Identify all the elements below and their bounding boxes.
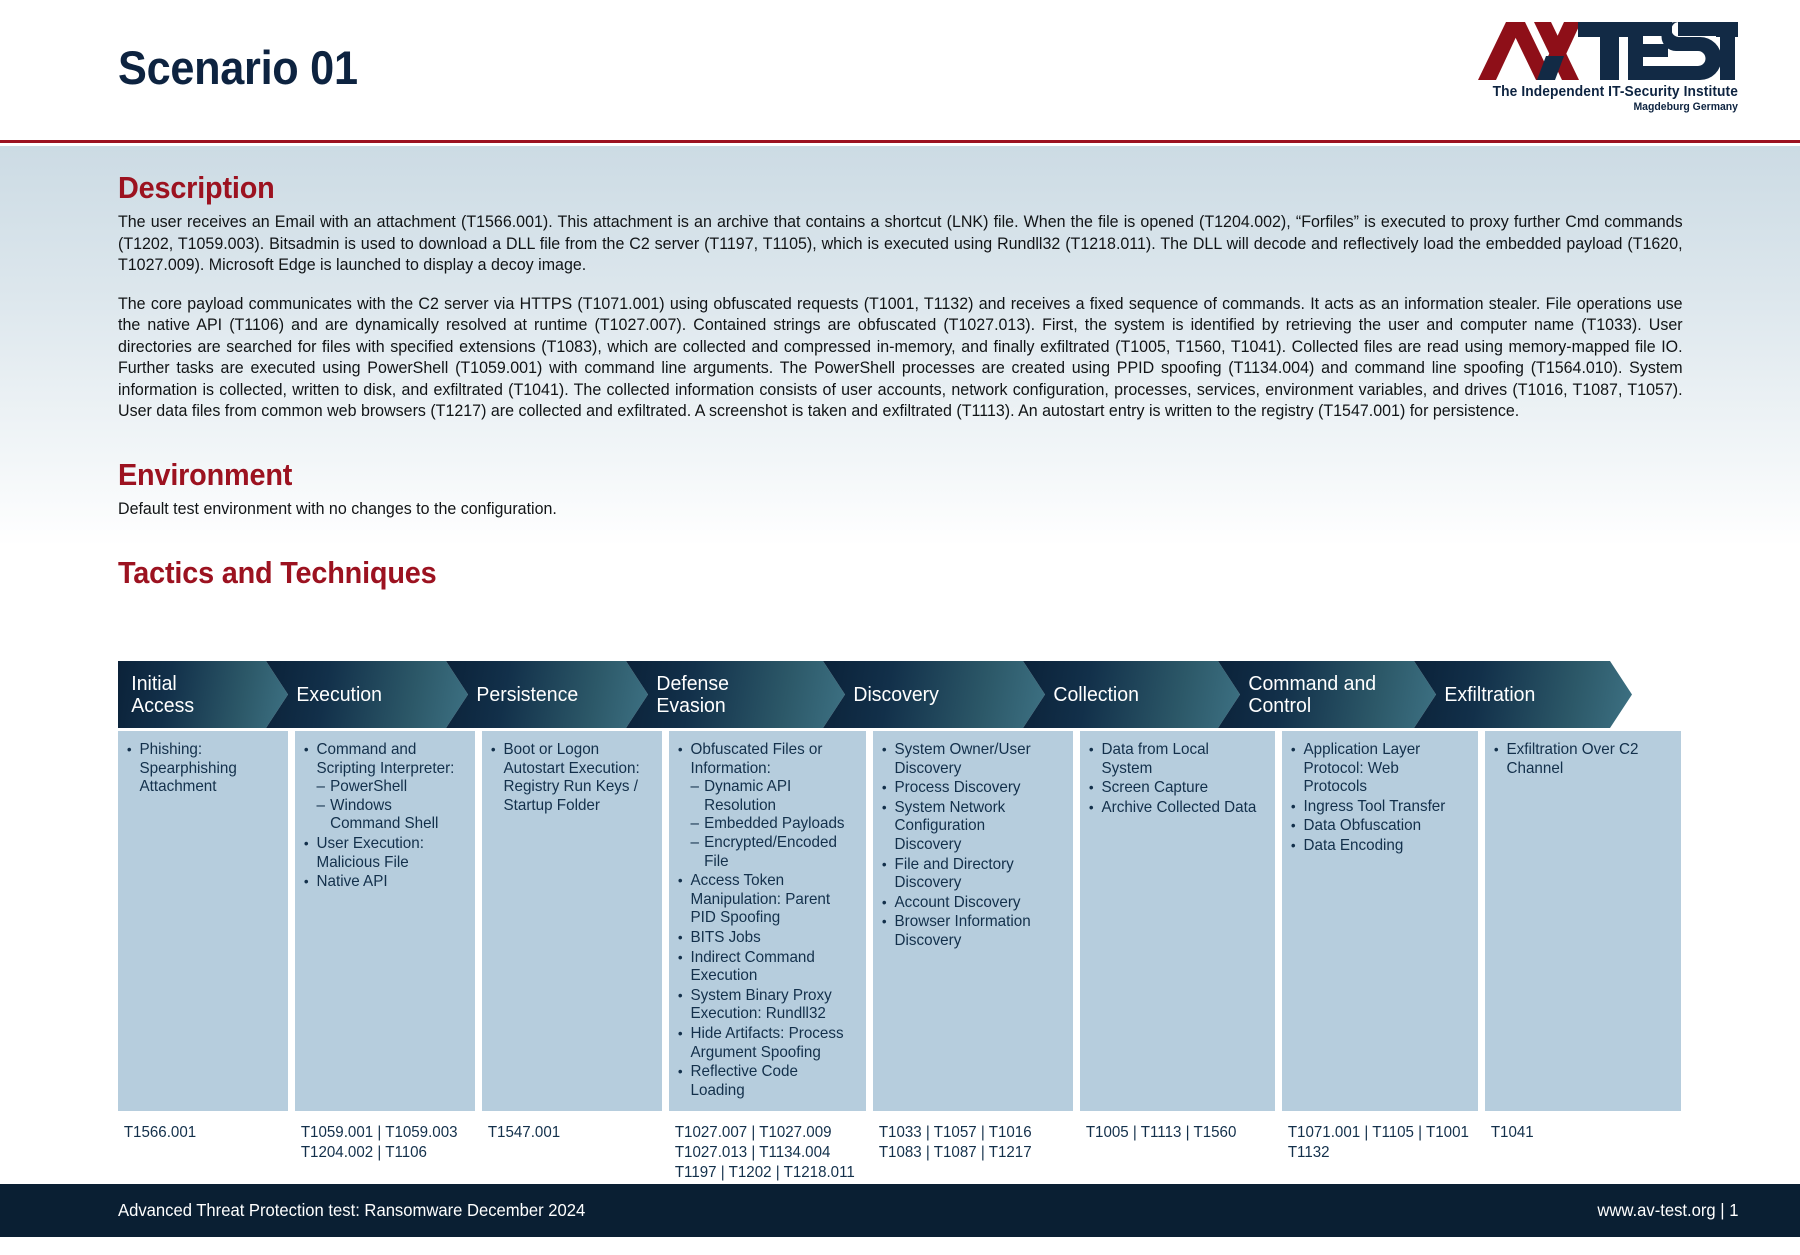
footer-bottom-strip	[0, 1237, 1800, 1255]
page-header: Scenario 01	[0, 0, 1800, 143]
technique-list: Phishing: Spearphishing Attachment	[124, 741, 276, 797]
technique-item: Command and Scripting Interpreter:PowerS…	[301, 741, 458, 834]
tactic-header-discovery: Discovery	[823, 661, 1045, 728]
technique-item: System Binary Proxy Execution: Rundll32	[675, 987, 849, 1024]
tactic-header-exfiltration: Exfiltration	[1414, 661, 1632, 728]
technique-item: Hide Artifacts: Process Argument Spoofin…	[675, 1025, 849, 1062]
tactic-header-label: Command and Control	[1218, 673, 1384, 717]
technique-list: System Owner/User DiscoveryProcess Disco…	[879, 741, 1061, 951]
technique-item: Browser Information Discovery	[879, 913, 1056, 950]
tactic-header-label: Initial Access	[118, 673, 202, 717]
technique-column-initial-access: Phishing: Spearphishing Attachment	[118, 731, 288, 1111]
logo-tagline: The Independent IT-Security Institute	[1491, 84, 1738, 100]
tactic-header-initial-access: Initial Access	[118, 661, 288, 728]
tactic-header-execution: Execution	[266, 661, 468, 728]
document-body: Description The user receives an Email w…	[118, 170, 1683, 596]
technique-item: Obfuscated Files or Information:Dynamic …	[675, 741, 849, 871]
technique-column-discovery: System Owner/User DiscoveryProcess Disco…	[873, 731, 1073, 1111]
technique-column-command-and-control: Application Layer Protocol: Web Protocol…	[1282, 731, 1478, 1111]
technique-subitem: Dynamic API Resolution	[691, 778, 849, 815]
description-paragraph-2: The core payload communicates with the C…	[118, 293, 1683, 422]
technique-item: Data from Local System	[1086, 741, 1258, 778]
technique-item: Screen Capture	[1086, 779, 1258, 798]
description-paragraph-1: The user receives an Email with an attac…	[118, 211, 1683, 276]
technique-column-execution: Command and Scripting Interpreter:PowerS…	[295, 731, 475, 1111]
environment-heading: Environment	[118, 457, 1573, 493]
tactic-header-row: Initial AccessExecutionPersistenceDefens…	[118, 661, 1683, 728]
av-test-logo-mark	[1478, 22, 1738, 84]
tactic-header-command-and-control: Command and Control	[1218, 661, 1436, 728]
av-test-wordmark-icon	[1478, 22, 1738, 84]
technique-columns-row: Phishing: Spearphishing AttachmentComman…	[118, 731, 1683, 1111]
technique-list: Boot or Logon Autostart Execution: Regis…	[488, 741, 650, 815]
technique-item: Indirect Command Execution	[675, 949, 849, 986]
logo-location: Magdeburg Germany	[1491, 101, 1738, 113]
technique-item: Application Layer Protocol: Web Protocol…	[1288, 741, 1461, 797]
tactic-header-collection: Collection	[1023, 661, 1240, 728]
technique-list: Obfuscated Files or Information:Dynamic …	[675, 741, 854, 1100]
technique-list: Application Layer Protocol: Web Protocol…	[1288, 741, 1466, 856]
footer-test-name: Advanced Threat Protection test: Ransomw…	[118, 1200, 585, 1221]
technique-item: User Execution: Malicious File	[301, 835, 458, 872]
technique-item: Access Token Manipulation: Parent PID Sp…	[675, 872, 849, 928]
technique-subitem: Windows Command Shell	[317, 797, 459, 834]
technique-item: Ingress Tool Transfer	[1288, 798, 1461, 817]
technique-item: Archive Collected Data	[1086, 799, 1258, 818]
environment-text: Default test environment with no changes…	[118, 498, 1683, 520]
tactic-header-persistence: Persistence	[446, 661, 648, 728]
technique-list: Data from Local SystemScreen CaptureArch…	[1086, 741, 1263, 817]
technique-subitem: Embedded Payloads	[691, 815, 849, 834]
technique-list: Exfiltration Over C2 Channel	[1491, 741, 1669, 778]
technique-item: Account Discovery	[879, 894, 1056, 913]
technique-item: File and Directory Discovery	[879, 856, 1056, 893]
tactic-header-defense-evasion: Defense Evasion	[626, 661, 845, 728]
technique-subitem-list: PowerShellWindows Command Shell	[317, 778, 459, 834]
technique-column-defense-evasion: Obfuscated Files or Information:Dynamic …	[669, 731, 866, 1111]
technique-item: System Network Configuration Discovery	[879, 799, 1056, 855]
technique-item: Exfiltration Over C2 Channel	[1491, 741, 1664, 778]
page-footer: Advanced Threat Protection test: Ransomw…	[0, 1184, 1800, 1237]
technique-item: Phishing: Spearphishing Attachment	[124, 741, 271, 797]
tactics-and-techniques-table: Initial AccessExecutionPersistenceDefens…	[118, 661, 1683, 1203]
technique-item: Process Discovery	[879, 779, 1056, 798]
technique-item: BITS Jobs	[675, 929, 849, 948]
document-page: Scenario 01	[0, 0, 1800, 1255]
tactics-heading: Tactics and Techniques	[118, 555, 1573, 591]
footer-website-and-page: www.av-test.org | 1	[1597, 1200, 1738, 1221]
technique-item: Data Encoding	[1288, 837, 1461, 856]
technique-item: Reflective Code Loading	[675, 1063, 849, 1100]
technique-item: System Owner/User Discovery	[879, 741, 1056, 778]
page-title: Scenario 01	[118, 40, 358, 95]
technique-item: Boot or Logon Autostart Execution: Regis…	[488, 741, 645, 815]
av-test-logo: The Independent IT-Security Institute Ma…	[1478, 22, 1738, 122]
technique-column-exfiltration: Exfiltration Over C2 Channel	[1485, 731, 1681, 1111]
technique-column-persistence: Boot or Logon Autostart Execution: Regis…	[482, 731, 662, 1111]
technique-subitem-list: Dynamic API ResolutionEmbedded PayloadsE…	[691, 778, 849, 871]
technique-item: Native API	[301, 873, 458, 892]
technique-list: Command and Scripting Interpreter:PowerS…	[301, 741, 463, 892]
technique-subitem: PowerShell	[317, 778, 459, 797]
technique-column-collection: Data from Local SystemScreen CaptureArch…	[1080, 731, 1275, 1111]
description-heading: Description	[118, 170, 1573, 206]
technique-subitem: Encrypted/Encoded File	[691, 834, 849, 871]
technique-item: Data Obfuscation	[1288, 817, 1461, 836]
